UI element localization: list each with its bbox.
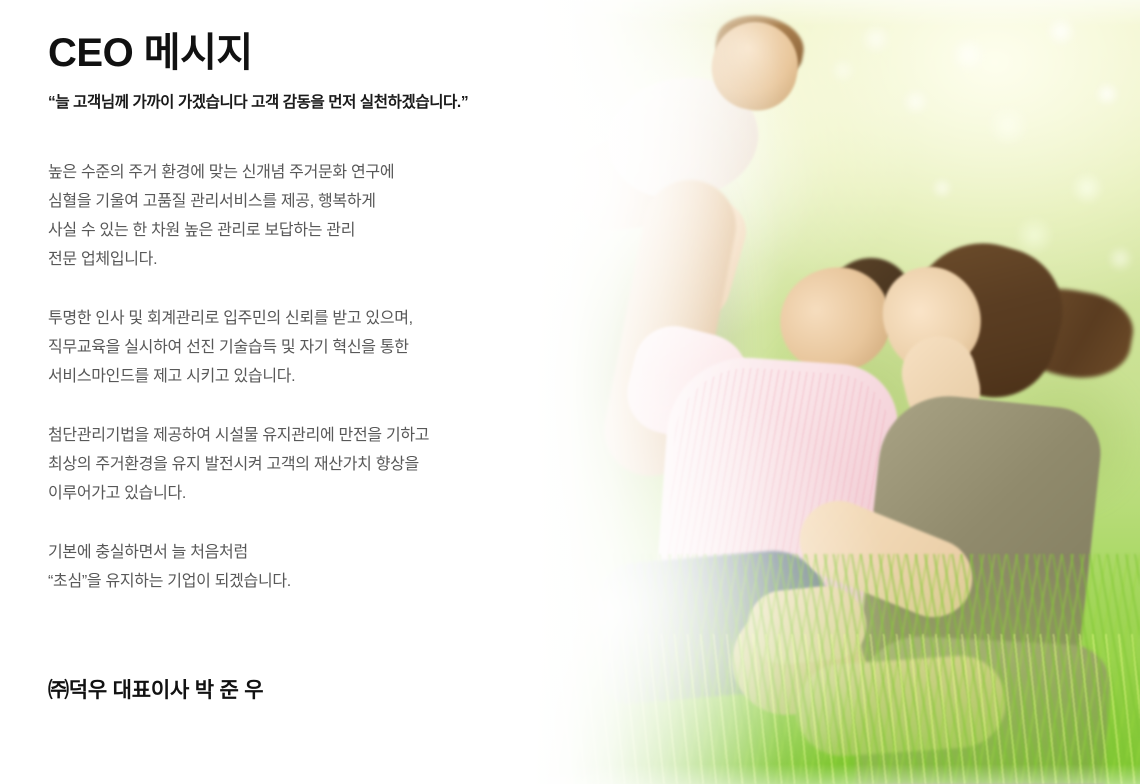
- paragraph-line: 전문 업체입니다.: [48, 245, 518, 274]
- paragraph-line: 최상의 주거환경을 유지 발전시켜 고객의 재산가치 향상을: [48, 450, 518, 479]
- paragraph: 기본에 충실하면서 늘 처음처럼 “초심”을 유지하는 기업이 되겠습니다.: [48, 538, 518, 596]
- tagline: “늘 고객님께 가까이 가겠습니다 고객 감동을 먼저 실천하겠습니다.”: [48, 90, 518, 112]
- paragraph-line: 첨단관리기법을 제공하여 시설물 유지관리에 만전을 기하고: [48, 421, 518, 450]
- paragraph-line: 사실 수 있는 한 차원 높은 관리로 보답하는 관리: [48, 216, 518, 245]
- paragraph: 투명한 인사 및 회계관리로 입주민의 신뢰를 받고 있으며, 직무교육을 실시…: [48, 304, 518, 391]
- text-column: CEO 메시지 “늘 고객님께 가까이 가겠습니다 고객 감동을 먼저 실천하겠…: [48, 0, 518, 704]
- photo-top-fade: [480, 0, 1140, 26]
- paragraph-line: 높은 수준의 주거 환경에 맞는 신개념 주거문화 연구에: [48, 158, 518, 187]
- photo-bottom-fade: [480, 764, 1140, 784]
- family-photo: [480, 0, 1140, 784]
- paragraph-line: “초심”을 유지하는 기업이 되겠습니다.: [48, 567, 518, 596]
- ceo-message-page: CEO 메시지 “늘 고객님께 가까이 가겠습니다 고객 감동을 먼저 실천하겠…: [0, 0, 1140, 784]
- message-body: 높은 수준의 주거 환경에 맞는 신개념 주거문화 연구에 심혈을 기울여 고품…: [48, 158, 518, 596]
- paragraph: 첨단관리기법을 제공하여 시설물 유지관리에 만전을 기하고 최상의 주거환경을…: [48, 421, 518, 508]
- paragraph-line: 투명한 인사 및 회계관리로 입주민의 신뢰를 받고 있으며,: [48, 304, 518, 333]
- paragraph-line: 심혈을 기울여 고품질 관리서비스를 제공, 행복하게: [48, 187, 518, 216]
- paragraph-line: 기본에 충실하면서 늘 처음처럼: [48, 538, 518, 567]
- paragraph-line: 직무교육을 실시하여 선진 기술습득 및 자기 혁신을 통한: [48, 333, 518, 362]
- page-title: CEO 메시지: [48, 0, 518, 78]
- photo-left-fade: [480, 0, 780, 784]
- paragraph-line: 이루어가고 있습니다.: [48, 479, 518, 508]
- paragraph: 높은 수준의 주거 환경에 맞는 신개념 주거문화 연구에 심혈을 기울여 고품…: [48, 158, 518, 274]
- paragraph-line: 서비스마인드를 제고 시키고 있습니다.: [48, 362, 518, 391]
- signature: ㈜덕우 대표이사 박 준 우: [48, 674, 518, 704]
